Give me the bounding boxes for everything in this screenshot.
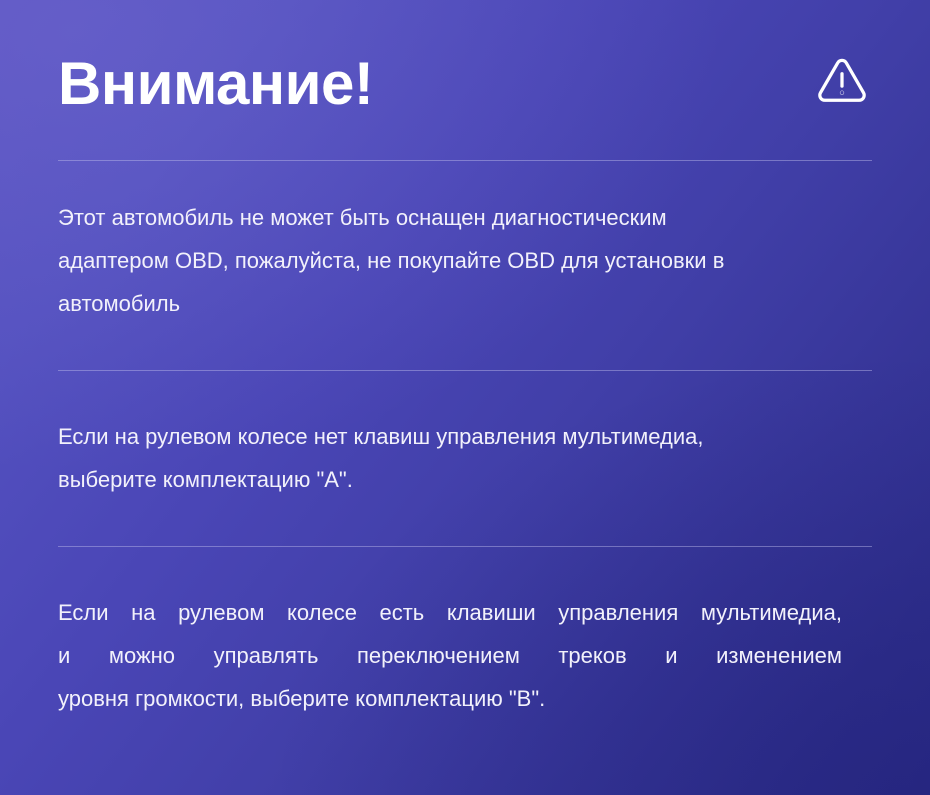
notice-line: Этот автомобиль не может быть оснащен ди…	[58, 196, 860, 239]
notice-line: уровня громкости, выберите комплектацию …	[58, 677, 842, 720]
notice-block-obd-warning: Этот автомобиль не может быть оснащен ди…	[58, 161, 872, 370]
notice-body: Этот автомобиль не может быть оснащен ди…	[58, 161, 872, 760]
notice-line: и можно управлять переключением треков и…	[58, 634, 842, 677]
notice-block-trim-b: Если на рулевом колесе есть клавиши упра…	[58, 547, 872, 760]
page-title: Внимание!	[58, 54, 373, 114]
notice-line: адаптером OBD, пожалуйста, не покупайте …	[58, 239, 860, 282]
notice-line: Если на рулевом колесе есть клавиши упра…	[58, 591, 842, 634]
notice-header: Внимание!	[58, 0, 872, 160]
notice-line: Если на рулевом колесе нет клавиш управл…	[58, 415, 850, 458]
notice-block-trim-a: Если на рулевом колесе нет клавиш управл…	[58, 371, 872, 546]
warning-triangle-icon	[815, 53, 869, 107]
warning-notice-screen: Внимание! Этот автомобиль не может быть …	[0, 0, 930, 795]
notice-line: автомобиль	[58, 282, 860, 325]
notice-content: Внимание! Этот автомобиль не может быть …	[0, 0, 930, 760]
notice-line: выберите комплектацию "A".	[58, 458, 850, 501]
